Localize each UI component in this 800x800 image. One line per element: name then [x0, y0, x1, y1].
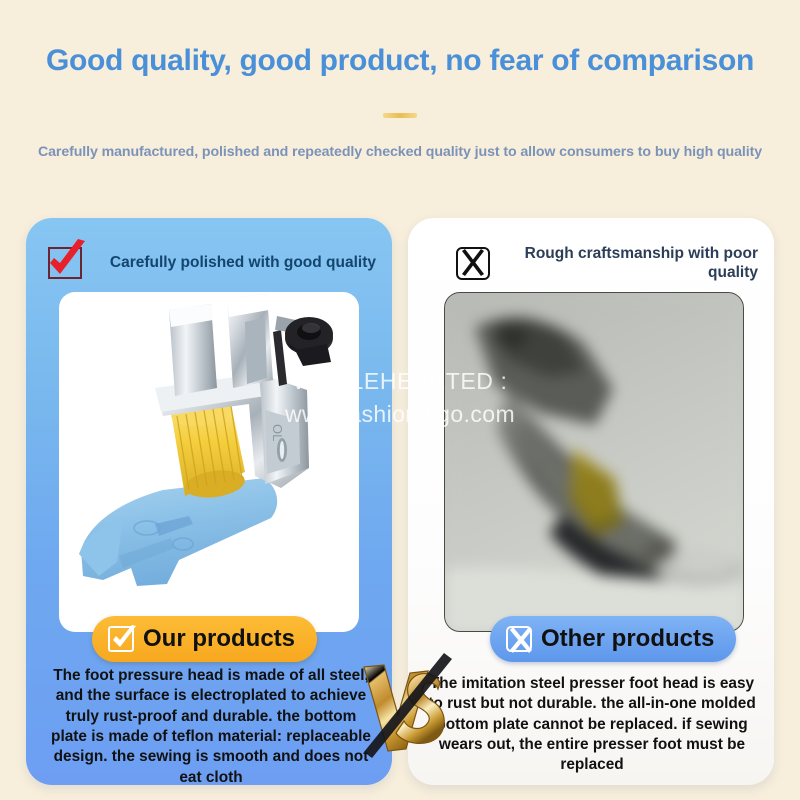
- other-products-badge-label: Other products: [541, 625, 714, 653]
- bad-card-header-label: Rough craftsmanship with poor quality: [500, 244, 758, 283]
- good-card-header: Carefully polished with good quality: [26, 218, 392, 292]
- good-product-card[interactable]: Carefully polished with good quality: [26, 218, 392, 785]
- bad-product-card[interactable]: Rough craftsmanship with poor quality: [408, 218, 774, 785]
- other-products-badge[interactable]: Other products: [490, 616, 736, 662]
- vs-badge: [362, 653, 452, 758]
- good-product-photo: OL: [59, 292, 359, 632]
- white-check-icon: [108, 626, 134, 652]
- our-products-badge[interactable]: Our products: [92, 616, 317, 662]
- comparison-section: Carefully polished with good quality: [0, 218, 800, 788]
- bad-product-description: The imitation steel presser foot head is…: [426, 674, 758, 776]
- white-x-icon: [506, 626, 532, 652]
- red-check-icon: [48, 247, 82, 279]
- page-title: Good quality, good product, no fear of c…: [0, 44, 800, 79]
- bad-card-header: Rough craftsmanship with poor quality: [408, 218, 774, 292]
- bad-product-photo: [444, 292, 744, 632]
- page-header: Good quality, good product, no fear of c…: [0, 0, 800, 160]
- presser-foot-good-illustration: OL: [59, 292, 359, 632]
- presser-foot-bad-illustration: [445, 293, 744, 632]
- our-products-badge-label: Our products: [143, 625, 295, 653]
- good-product-description: The foot pressure head is made of all st…: [46, 666, 376, 785]
- title-divider: [383, 113, 417, 118]
- page-subtitle: Carefully manufactured, polished and rep…: [0, 144, 800, 160]
- svg-text:OL: OL: [270, 424, 285, 441]
- black-x-icon: [456, 247, 490, 280]
- good-card-header-label: Carefully polished with good quality: [92, 253, 376, 272]
